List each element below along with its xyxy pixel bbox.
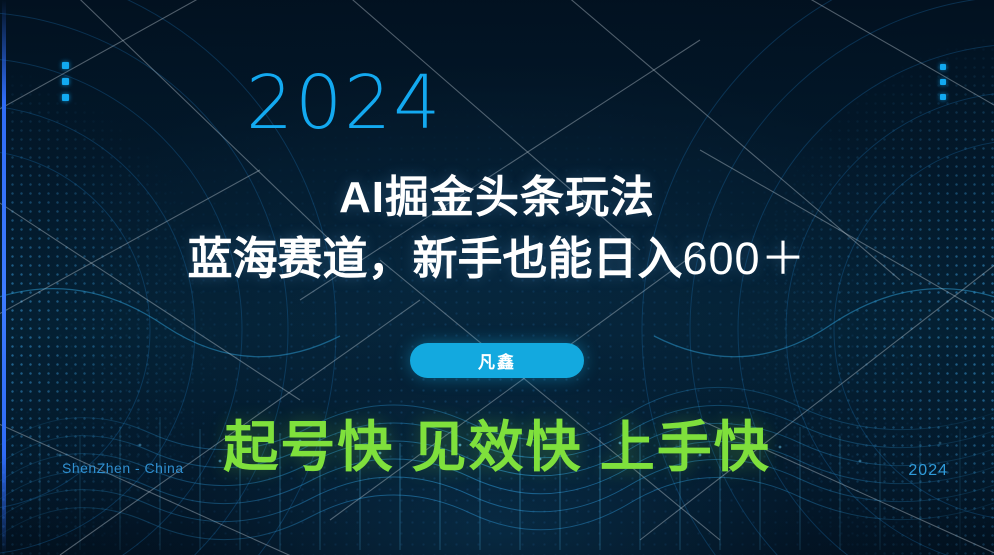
author-badge[interactable]: 凡鑫 (410, 343, 584, 378)
poster-canvas: 2024 AI掘金头条玩法 蓝海赛道，新手也能日入600＋ 凡鑫 起号快 见效快… (0, 0, 994, 555)
corner-location-label: ShenZhen - China (62, 458, 184, 479)
year-heading: 2024 (246, 66, 442, 140)
dot-marker-right (940, 64, 946, 100)
dot-icon (940, 64, 946, 70)
headline-block: AI掘金头条玩法 蓝海赛道，新手也能日入600＋ (0, 172, 994, 285)
dot-icon (62, 62, 69, 69)
headline-secondary: 蓝海赛道，新手也能日入600＋ (0, 232, 994, 285)
headline-primary: AI掘金头条玩法 (0, 172, 994, 224)
dot-icon (940, 94, 946, 100)
dot-icon (940, 79, 946, 85)
headline-secondary-number: 600＋ (682, 233, 806, 284)
dot-icon (62, 78, 69, 85)
corner-year-label: 2024 (908, 462, 948, 480)
headline-secondary-text: 蓝海赛道，新手也能日入 (187, 233, 682, 284)
dot-icon (62, 94, 69, 101)
dot-marker-left (62, 62, 69, 101)
